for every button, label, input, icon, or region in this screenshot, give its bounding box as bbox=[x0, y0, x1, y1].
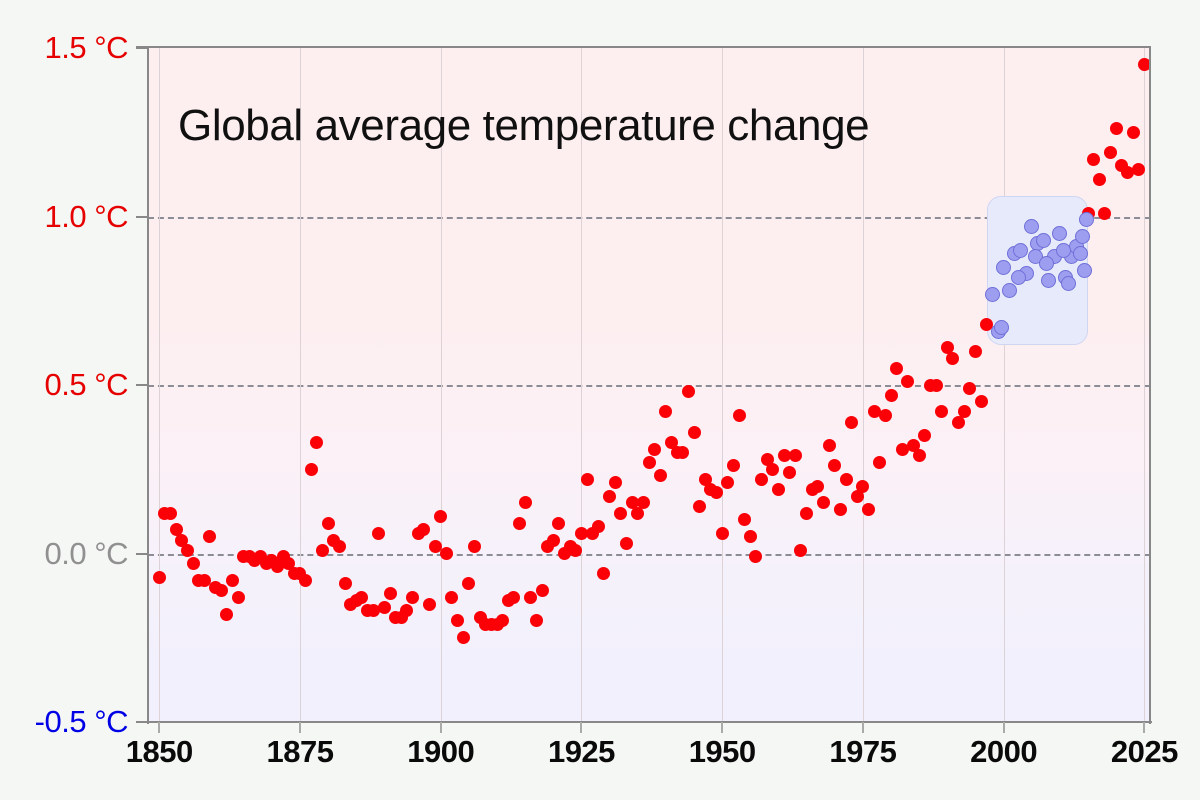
y-tick-0 bbox=[136, 553, 148, 555]
data-point[interactable] bbox=[372, 527, 385, 540]
x-axis-label-2000: 2000 bbox=[970, 735, 1037, 769]
y-axis-label-1.5: 1.5 °C bbox=[45, 32, 129, 63]
chart-canvas: 1.5 °C1.0 °C0.5 °C0.0 °C-0.5 °C185018751… bbox=[0, 0, 1200, 800]
gridline-y-0 bbox=[148, 554, 1150, 556]
data-point[interactable] bbox=[305, 463, 318, 476]
data-point[interactable] bbox=[1013, 243, 1028, 258]
gridline-x-2000 bbox=[1004, 48, 1005, 722]
data-point[interactable] bbox=[834, 503, 847, 516]
x-axis-label-2025: 2025 bbox=[1111, 735, 1178, 769]
data-point[interactable] bbox=[592, 520, 605, 533]
data-point[interactable] bbox=[1132, 163, 1145, 176]
data-point[interactable] bbox=[384, 587, 397, 600]
data-point[interactable] bbox=[1056, 243, 1071, 258]
data-point[interactable] bbox=[716, 527, 729, 540]
data-point[interactable] bbox=[856, 480, 869, 493]
data-point[interactable] bbox=[845, 416, 858, 429]
x-tick-1900 bbox=[440, 722, 442, 733]
data-point[interactable] bbox=[930, 379, 943, 392]
x-axis-label-1850: 1850 bbox=[126, 735, 193, 769]
data-point[interactable] bbox=[1093, 173, 1106, 186]
data-point[interactable] bbox=[811, 480, 824, 493]
data-point[interactable] bbox=[885, 389, 898, 402]
data-point[interactable] bbox=[440, 547, 453, 560]
data-point[interactable] bbox=[766, 463, 779, 476]
data-point[interactable] bbox=[581, 473, 594, 486]
x-axis-line bbox=[146, 721, 1152, 723]
data-point[interactable] bbox=[823, 439, 836, 452]
data-point[interactable] bbox=[890, 362, 903, 375]
data-point[interactable] bbox=[996, 260, 1011, 275]
gridline-y-0.5 bbox=[148, 385, 1150, 387]
data-point[interactable] bbox=[688, 426, 701, 439]
data-point[interactable] bbox=[620, 537, 633, 550]
data-point[interactable] bbox=[1011, 270, 1026, 285]
data-point[interactable] bbox=[969, 345, 982, 358]
data-point[interactable] bbox=[1087, 153, 1100, 166]
data-point[interactable] bbox=[406, 591, 419, 604]
data-point[interactable] bbox=[226, 574, 239, 587]
data-point[interactable] bbox=[215, 584, 228, 597]
data-point[interactable] bbox=[609, 476, 622, 489]
x-tick-2025 bbox=[1143, 722, 1145, 733]
data-point[interactable] bbox=[946, 352, 959, 365]
plot-top-border bbox=[136, 46, 1151, 48]
data-point[interactable] bbox=[153, 571, 166, 584]
gridline-x-1850 bbox=[159, 48, 160, 722]
data-point[interactable] bbox=[181, 544, 194, 557]
data-point[interactable] bbox=[648, 443, 661, 456]
data-point[interactable] bbox=[755, 473, 768, 486]
data-point[interactable] bbox=[423, 598, 436, 611]
x-axis-label-1900: 1900 bbox=[407, 735, 474, 769]
data-point[interactable] bbox=[524, 591, 537, 604]
data-point[interactable] bbox=[322, 517, 335, 530]
plot-right-border bbox=[1149, 46, 1151, 724]
y-axis-label-1: 1.0 °C bbox=[45, 201, 129, 232]
data-point[interactable] bbox=[339, 577, 352, 590]
data-point[interactable] bbox=[547, 534, 560, 547]
data-point[interactable] bbox=[975, 395, 988, 408]
x-tick-2000 bbox=[1003, 722, 1005, 733]
y-tick-1 bbox=[136, 216, 148, 218]
data-point[interactable] bbox=[378, 601, 391, 614]
data-point[interactable] bbox=[733, 409, 746, 422]
data-point[interactable] bbox=[643, 456, 656, 469]
gridline-x-2025 bbox=[1144, 48, 1145, 722]
data-point[interactable] bbox=[1039, 256, 1054, 271]
data-point[interactable] bbox=[1073, 246, 1088, 261]
y-axis-label-0.5: 0.5 °C bbox=[45, 369, 129, 400]
y-tick-0.5 bbox=[136, 384, 148, 386]
x-axis-label-1925: 1925 bbox=[548, 735, 615, 769]
data-point[interactable] bbox=[840, 473, 853, 486]
data-point[interactable] bbox=[220, 608, 233, 621]
data-point[interactable] bbox=[1036, 233, 1051, 248]
data-point[interactable] bbox=[1002, 283, 1017, 298]
y-axis-label-0: 0.0 °C bbox=[45, 538, 129, 569]
x-tick-1850 bbox=[158, 722, 160, 733]
data-point[interactable] bbox=[1104, 146, 1117, 159]
data-point[interactable] bbox=[744, 530, 757, 543]
data-point[interactable] bbox=[603, 490, 616, 503]
x-tick-1950 bbox=[721, 722, 723, 733]
x-axis-label-1975: 1975 bbox=[829, 735, 896, 769]
data-point[interactable] bbox=[879, 409, 892, 422]
data-point[interactable] bbox=[187, 557, 200, 570]
y-tick--0.5 bbox=[136, 721, 148, 723]
data-point[interactable] bbox=[536, 584, 549, 597]
x-axis-label-1950: 1950 bbox=[689, 735, 756, 769]
data-point[interactable] bbox=[800, 507, 813, 520]
data-point[interactable] bbox=[1127, 126, 1140, 139]
x-axis-label-1875: 1875 bbox=[267, 735, 334, 769]
y-tick-1.5 bbox=[136, 47, 148, 49]
data-point[interactable] bbox=[994, 320, 1009, 335]
y-axis-label--0.5: -0.5 °C bbox=[35, 706, 128, 737]
x-tick-1975 bbox=[862, 722, 864, 733]
data-point[interactable] bbox=[299, 574, 312, 587]
data-point[interactable] bbox=[1077, 263, 1092, 278]
data-point[interactable] bbox=[913, 449, 926, 462]
data-point[interactable] bbox=[772, 483, 785, 496]
data-point[interactable] bbox=[164, 507, 177, 520]
data-point[interactable] bbox=[232, 591, 245, 604]
data-point[interactable] bbox=[985, 287, 1000, 302]
data-point[interactable] bbox=[693, 500, 706, 513]
data-point[interactable] bbox=[457, 631, 470, 644]
data-point[interactable] bbox=[316, 544, 329, 557]
data-point[interactable] bbox=[569, 544, 582, 557]
data-point[interactable] bbox=[513, 517, 526, 530]
data-point[interactable] bbox=[614, 507, 627, 520]
chart-title: Global average temperature change bbox=[178, 100, 869, 152]
x-tick-1875 bbox=[299, 722, 301, 733]
x-tick-1925 bbox=[580, 722, 582, 733]
